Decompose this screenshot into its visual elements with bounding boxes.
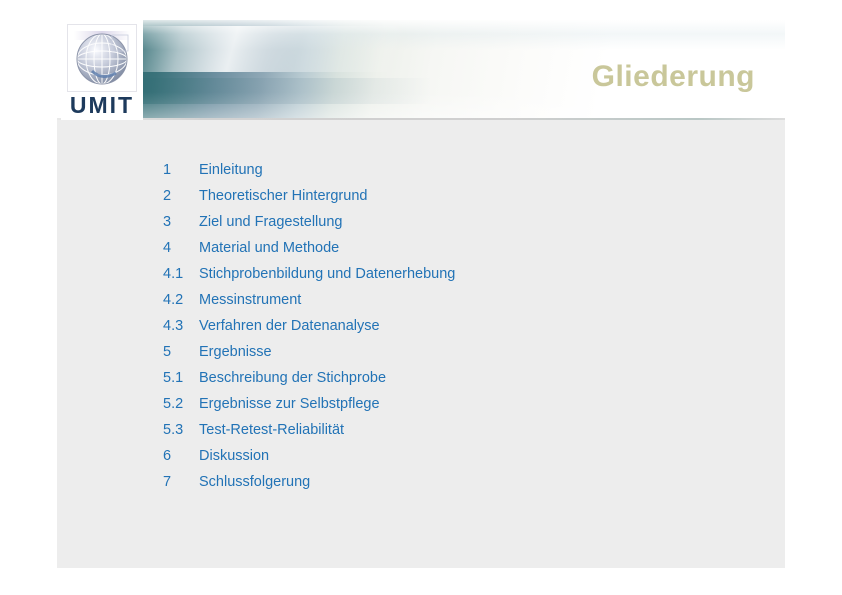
outline-item: 4.2Messinstrument (163, 292, 723, 318)
outline-item: 5.2Ergebnisse zur Selbstpflege (163, 396, 723, 422)
slide-header: UMIT Gliederung (57, 20, 785, 120)
outline-item-number: 4.1 (163, 266, 199, 282)
outline-item: 6Diskussion (163, 448, 723, 474)
outline-item-label: Theoretischer Hintergrund (199, 188, 367, 204)
outline-item-number: 7 (163, 474, 199, 490)
globe-wireframe-icon (67, 24, 137, 92)
slide-title: Gliederung (592, 60, 755, 94)
outline-item-label: Messinstrument (199, 292, 301, 308)
outline-item-number: 4 (163, 240, 199, 256)
outline-item: 4.3Verfahren der Datenanalyse (163, 318, 723, 344)
outline-item-number: 5.3 (163, 422, 199, 438)
outline-item-number: 5.2 (163, 396, 199, 412)
outline-item-label: Einleitung (199, 162, 263, 178)
outline-item-label: Schlussfolgerung (199, 474, 310, 490)
outline-item-label: Verfahren der Datenanalyse (199, 318, 380, 334)
slide-body: 1Einleitung2Theoretischer Hintergrund3Zi… (57, 121, 785, 568)
outline-item-number: 6 (163, 448, 199, 464)
outline-item-number: 3 (163, 214, 199, 230)
outline-item-number: 5 (163, 344, 199, 360)
outline-item: 5.1Beschreibung der Stichprobe (163, 370, 723, 396)
outline-item-label: Ziel und Fragestellung (199, 214, 342, 230)
outline-item: 4.1Stichprobenbildung und Datenerhebung (163, 266, 723, 292)
outline-item-number: 4.2 (163, 292, 199, 308)
outline-item: 2Theoretischer Hintergrund (163, 188, 723, 214)
outline-item: 1Einleitung (163, 162, 723, 188)
outline-item-label: Diskussion (199, 448, 269, 464)
outline-item-number: 2 (163, 188, 199, 204)
outline-item-number: 1 (163, 162, 199, 178)
outline-item: 7Schlussfolgerung (163, 474, 723, 500)
outline-item-label: Ergebnisse (199, 344, 272, 360)
outline-list: 1Einleitung2Theoretischer Hintergrund3Zi… (163, 162, 723, 500)
presentation-slide: UMIT Gliederung 1Einleitung2Theoretische… (57, 20, 785, 568)
outline-item-label: Material und Methode (199, 240, 339, 256)
outline-item-number: 5.1 (163, 370, 199, 386)
outline-item-label: Stichprobenbildung und Datenerhebung (199, 266, 455, 282)
outline-item-label: Test-Retest-Reliabilität (199, 422, 344, 438)
outline-item-label: Beschreibung der Stichprobe (199, 370, 386, 386)
umit-logo: UMIT (61, 20, 143, 120)
header-divider (57, 118, 785, 120)
outline-item: 5.3Test-Retest-Reliabilität (163, 422, 723, 448)
umit-wordmark: UMIT (61, 92, 143, 118)
outline-item: 5Ergebnisse (163, 344, 723, 370)
outline-item: 3Ziel und Fragestellung (163, 214, 723, 240)
outline-item-number: 4.3 (163, 318, 199, 334)
outline-item: 4Material und Methode (163, 240, 723, 266)
outline-item-label: Ergebnisse zur Selbstpflege (199, 396, 380, 412)
